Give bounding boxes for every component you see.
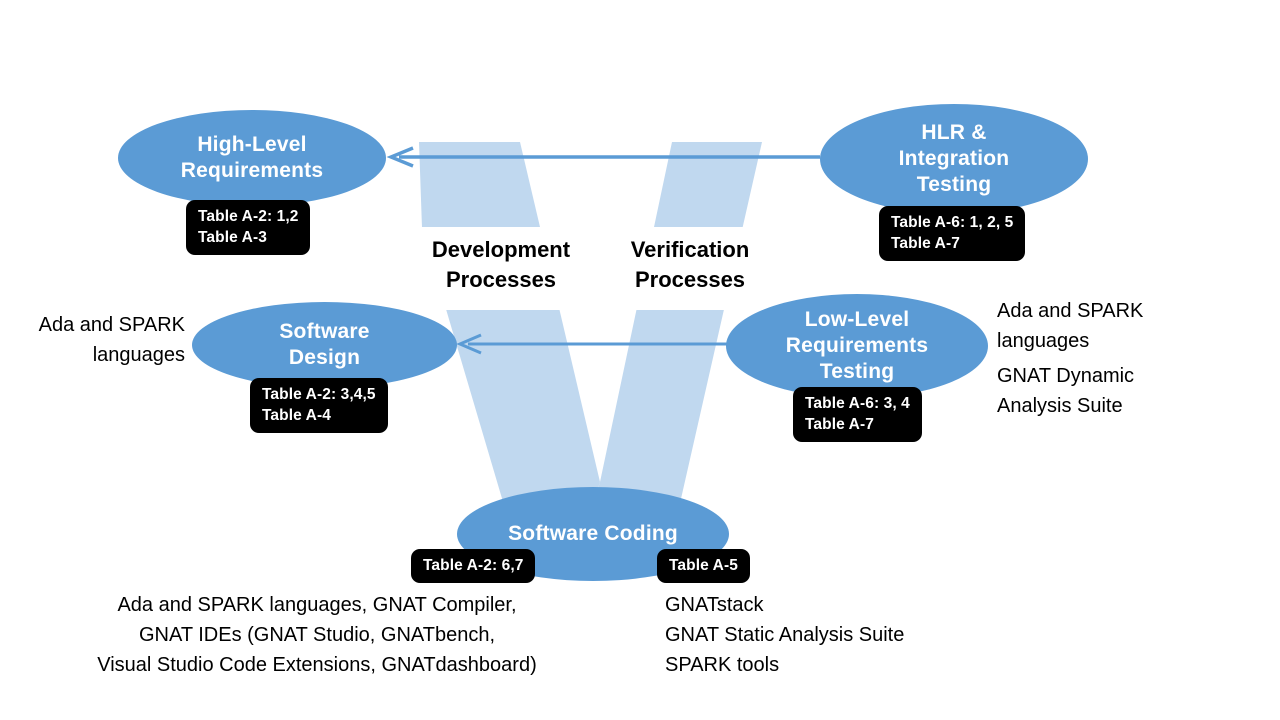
tag-software-design: Table A-2: 3,4,5 Table A-4 — [250, 378, 388, 433]
node-high-level-requirements-label: High-Level Requirements — [118, 132, 386, 184]
node-software-coding-label: Software Coding — [457, 521, 729, 547]
tag-hlr-integration-testing: Table A-6: 1, 2, 5 Table A-7 — [879, 206, 1025, 261]
v-model-diagram: High-Level Requirements HLR & Integratio… — [0, 0, 1280, 720]
note-llr-right-languages: Ada and SPARK languages — [997, 296, 1267, 356]
node-low-level-requirements-testing-label: Low-Level Requirements Testing — [726, 307, 988, 385]
node-hlr-integration-testing[interactable]: HLR & Integration Testing — [820, 104, 1088, 214]
node-hlr-integration-testing-label: HLR & Integration Testing — [820, 120, 1088, 198]
note-coding-left: Ada and SPARK languages, GNAT Compiler, … — [37, 590, 597, 680]
note-llr-right-dynamic-analysis: GNAT Dynamic Analysis Suite — [997, 361, 1267, 421]
tag-high-level-requirements: Table A-2: 1,2 Table A-3 — [186, 200, 310, 255]
node-software-design[interactable]: Software Design — [192, 302, 457, 388]
tag-low-level-requirements-testing: Table A-6: 3, 4 Table A-7 — [793, 387, 922, 442]
note-coding-right: GNATstack GNAT Static Analysis Suite SPA… — [665, 590, 1085, 680]
label-development-processes: Development Processes — [408, 235, 594, 295]
node-high-level-requirements[interactable]: High-Level Requirements — [118, 110, 386, 206]
tag-software-coding-left: Table A-2: 6,7 — [411, 549, 535, 583]
node-software-design-label: Software Design — [192, 319, 457, 371]
tag-software-coding-right: Table A-5 — [657, 549, 750, 583]
note-design-left: Ada and SPARK languages — [20, 310, 185, 370]
node-low-level-requirements-testing[interactable]: Low-Level Requirements Testing — [726, 294, 988, 398]
label-verification-processes: Verification Processes — [600, 235, 780, 295]
